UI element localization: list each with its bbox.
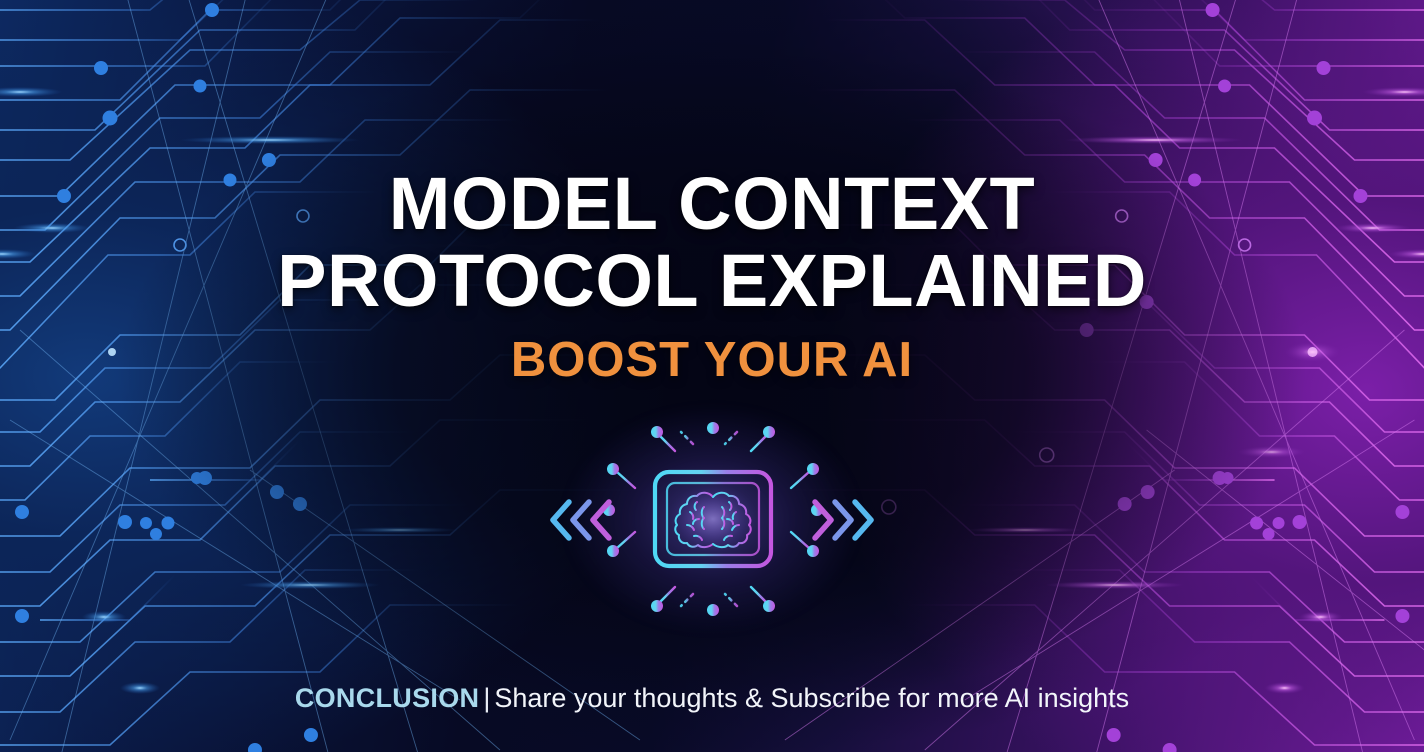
right-chevrons — [815, 502, 871, 538]
title-line-2: PROTOCOL EXPLAINED — [0, 245, 1424, 316]
page-title: MODEL CONTEXT PROTOCOL EXPLAINED BOOST Y… — [0, 168, 1424, 388]
footer-text: Share your thoughts & Subscribe for more… — [494, 683, 1129, 713]
ai-brain-chip-icon — [547, 404, 877, 634]
footer-caption: CONCLUSION|Share your thoughts & Subscri… — [0, 683, 1424, 714]
footer-label: CONCLUSION — [295, 683, 480, 713]
footer-separator: | — [479, 683, 494, 713]
slide-canvas: MODEL CONTEXT PROTOCOL EXPLAINED BOOST Y… — [0, 0, 1424, 752]
chip-svg — [547, 404, 877, 634]
left-chevrons — [553, 502, 609, 538]
slide-content: MODEL CONTEXT PROTOCOL EXPLAINED BOOST Y… — [0, 0, 1424, 752]
title-line-1: MODEL CONTEXT — [0, 168, 1424, 239]
subtitle: BOOST YOUR AI — [0, 332, 1424, 388]
